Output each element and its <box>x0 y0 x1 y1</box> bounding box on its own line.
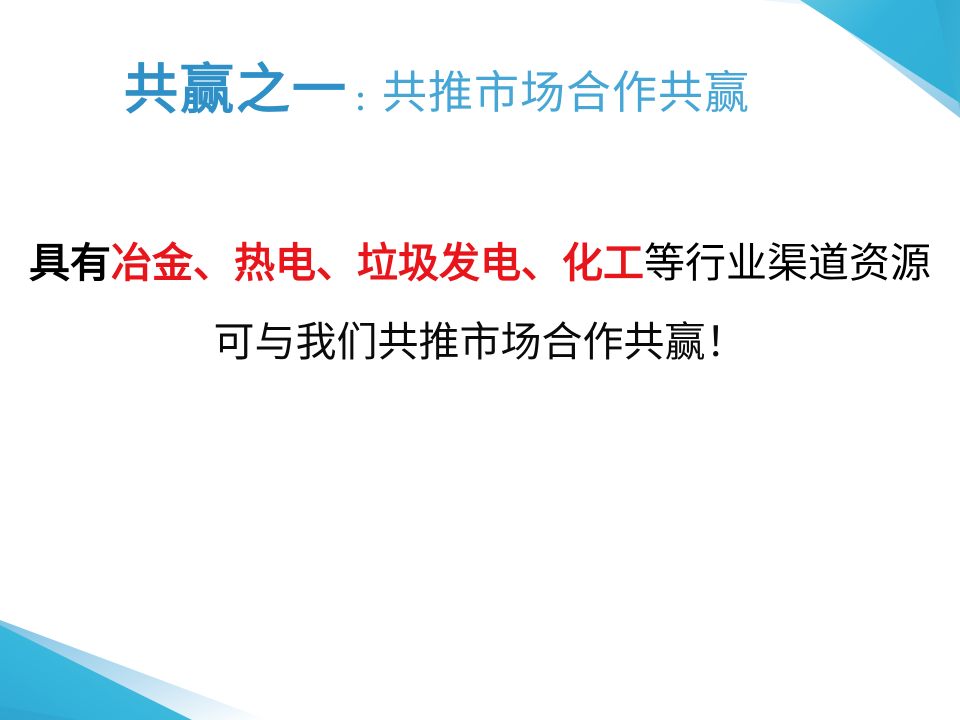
presentation-slide: 共赢之一：共推市场合作共赢 具有冶金、热电、垃圾发电、化工等行业渠道资源 可与我… <box>0 0 960 720</box>
body-line-2: 可与我们共推市场合作共赢！ <box>0 322 960 363</box>
deco-top-right-edge-strip <box>935 0 960 110</box>
body-line-1-segment-lead: 具有 <box>29 239 111 287</box>
slide-title-subtitle: 共推市场合作共赢 <box>382 66 750 119</box>
deco-top-right-pale-band <box>700 0 960 20</box>
body-line-1-segment-highlight: 冶金、热电、垃圾发电、化工 <box>111 239 644 287</box>
body-line-1: 具有冶金、热电、垃圾发电、化工等行业渠道资源 <box>0 243 960 284</box>
body-line-1-segment-tail: 等行业渠道资源 <box>644 239 931 287</box>
slide-title-separator: ： <box>348 87 382 117</box>
deco-bottom-left-teal-triangle <box>0 625 192 720</box>
deco-bottom-left-light-band <box>0 620 268 720</box>
body-line-2-segment: 可与我们共推市场合作共赢！ <box>214 318 747 366</box>
slide-body: 具有冶金、热电、垃圾发电、化工等行业渠道资源 可与我们共推市场合作共赢！ <box>0 243 960 363</box>
deco-bottom-left-edge-wedge <box>0 706 78 720</box>
slide-title: 共赢之一：共推市场合作共赢 <box>124 62 884 140</box>
deco-bottom-left-pale-band <box>0 700 268 720</box>
slide-title-main: 共赢之一 <box>124 57 348 121</box>
